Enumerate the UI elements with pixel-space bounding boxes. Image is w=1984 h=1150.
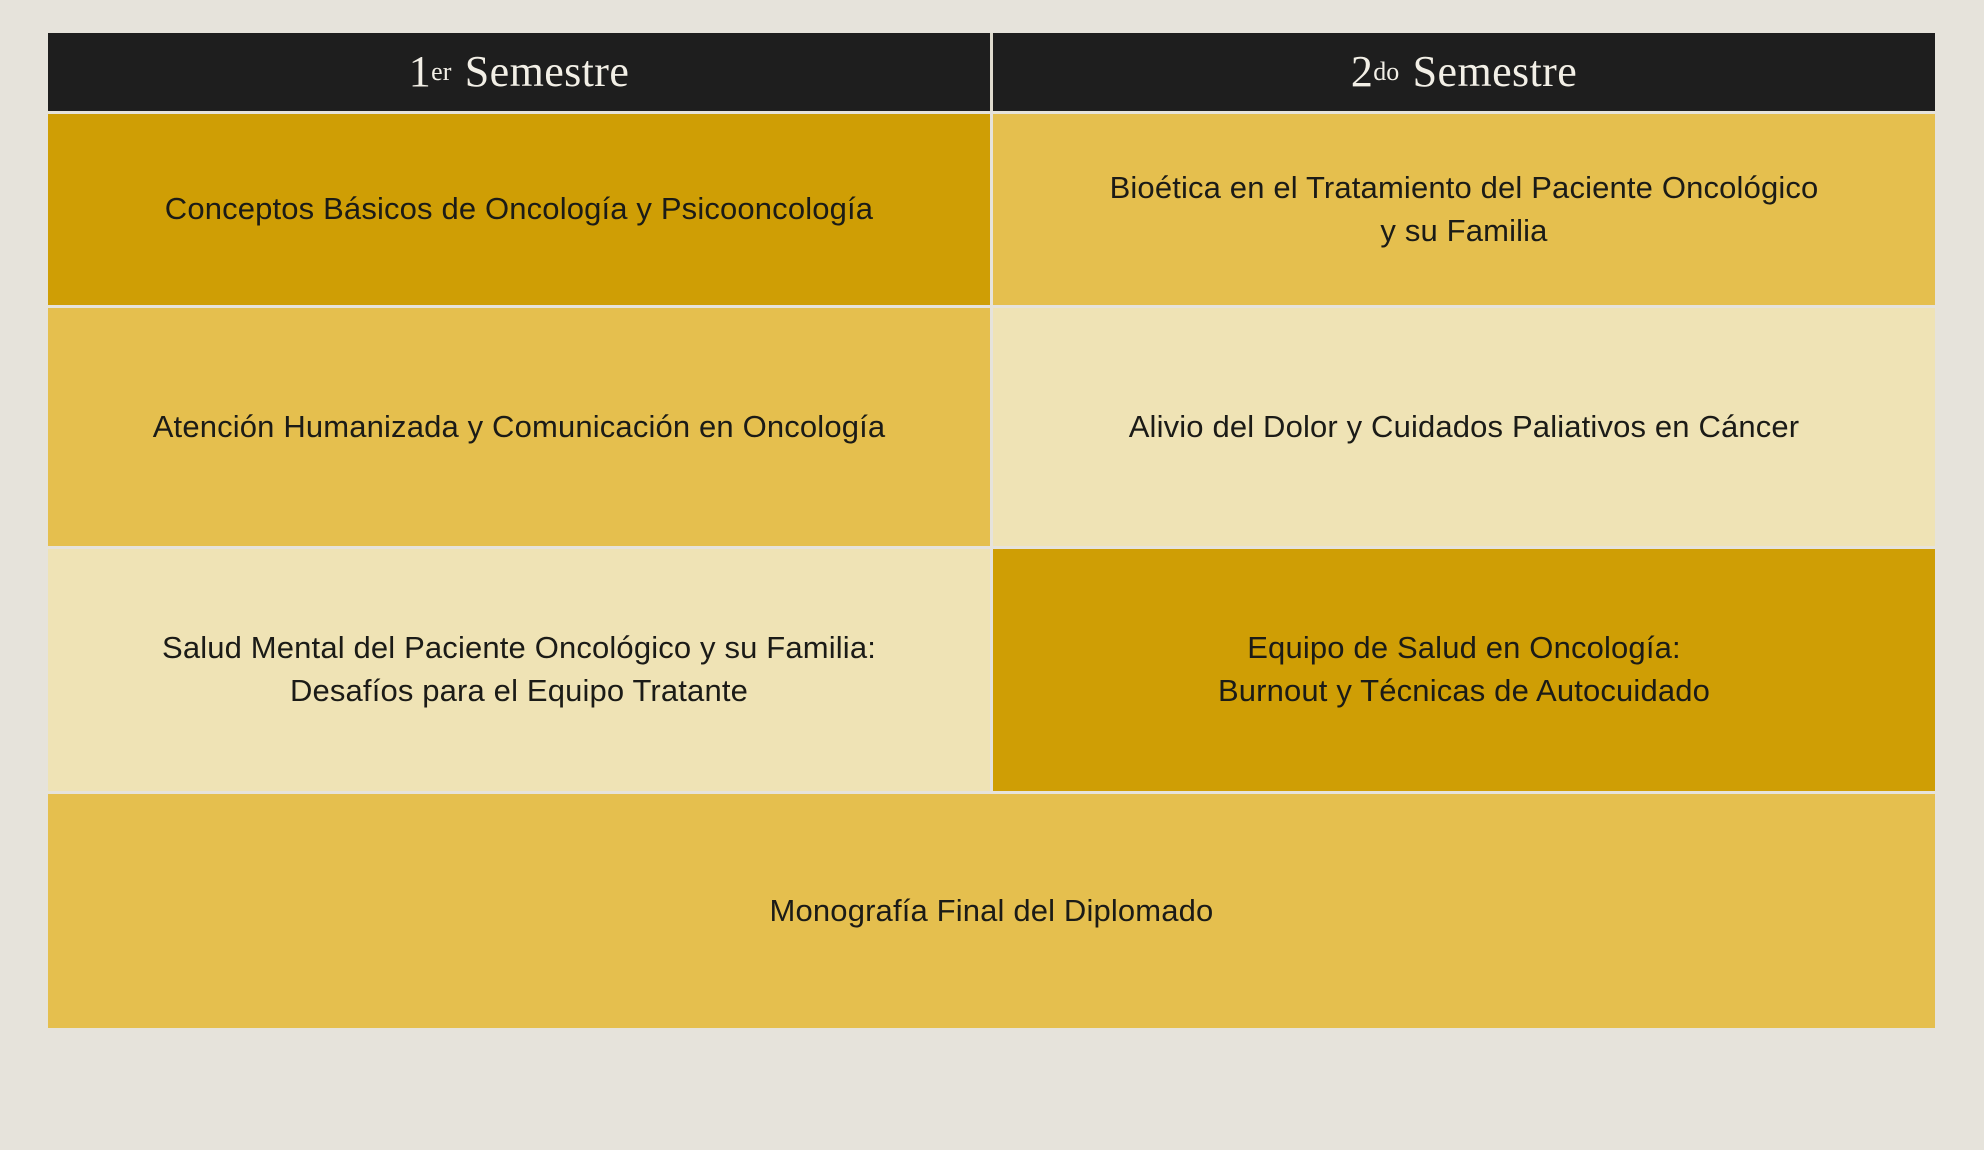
table-row: Atención Humanizada y Comunicación en On… [48, 308, 1935, 546]
table-row: Salud Mental del Paciente Oncológico y s… [48, 549, 1935, 791]
course-cell-s2-m2: Alivio del Dolor y Cuidados Paliativos e… [993, 308, 1935, 546]
course-line: Salud Mental del Paciente Oncológico y s… [162, 630, 876, 665]
course-cell-s1-m1: Conceptos Básicos de Oncología y Psicoon… [48, 114, 990, 305]
header-semester-2-word: Semestre [1413, 50, 1577, 94]
course-line: Bioética en el Tratamiento del Paciente … [1110, 170, 1819, 205]
course-label: Alivio del Dolor y Cuidados Paliativos e… [1129, 406, 1800, 449]
table-header-row: 1er Semestre 2do Semestre [48, 33, 1935, 111]
course-cell-final-monograph: Monografía Final del Diplomado [48, 794, 1935, 1028]
course-line: Atención Humanizada y Comunicación en On… [153, 409, 886, 444]
course-line: y su Familia [1380, 213, 1547, 248]
course-label: Atención Humanizada y Comunicación en On… [153, 406, 886, 449]
course-line: Monografía Final del Diplomado [770, 893, 1214, 928]
header-cell-semester-2: 2do Semestre [990, 33, 1935, 111]
table-row-final: Monografía Final del Diplomado [48, 794, 1935, 1028]
course-label: Monografía Final del Diplomado [770, 890, 1214, 933]
course-label: Bioética en el Tratamiento del Paciente … [1110, 167, 1819, 253]
course-line: Equipo de Salud en Oncología: [1247, 630, 1681, 665]
header-cell-semester-1: 1er Semestre [48, 33, 990, 111]
header-semester-2-number: 2 [1351, 50, 1373, 94]
curriculum-table: 1er Semestre 2do Semestre Conceptos Bási… [48, 33, 1935, 1096]
course-label: Conceptos Básicos de Oncología y Psicoon… [165, 188, 873, 231]
header-semester-1-word: Semestre [465, 50, 629, 94]
table-row: Conceptos Básicos de Oncología y Psicoon… [48, 114, 1935, 305]
table-body: Conceptos Básicos de Oncología y Psicoon… [48, 111, 1935, 1096]
header-semester-1-number: 1 [409, 50, 431, 94]
course-label: Salud Mental del Paciente Oncológico y s… [162, 627, 876, 713]
course-label: Equipo de Salud en Oncología: Burnout y … [1218, 627, 1710, 713]
course-cell-s2-m1: Bioética en el Tratamiento del Paciente … [993, 114, 1935, 305]
course-line: Conceptos Básicos de Oncología y Psicoon… [165, 191, 873, 226]
course-line: Alivio del Dolor y Cuidados Paliativos e… [1129, 409, 1800, 444]
course-cell-s1-m2: Atención Humanizada y Comunicación en On… [48, 308, 990, 546]
course-line: Burnout y Técnicas de Autocuidado [1218, 673, 1710, 708]
course-line: Desafíos para el Equipo Tratante [290, 673, 748, 708]
course-cell-s2-m3: Equipo de Salud en Oncología: Burnout y … [993, 549, 1935, 791]
course-cell-s1-m3: Salud Mental del Paciente Oncológico y s… [48, 549, 990, 791]
